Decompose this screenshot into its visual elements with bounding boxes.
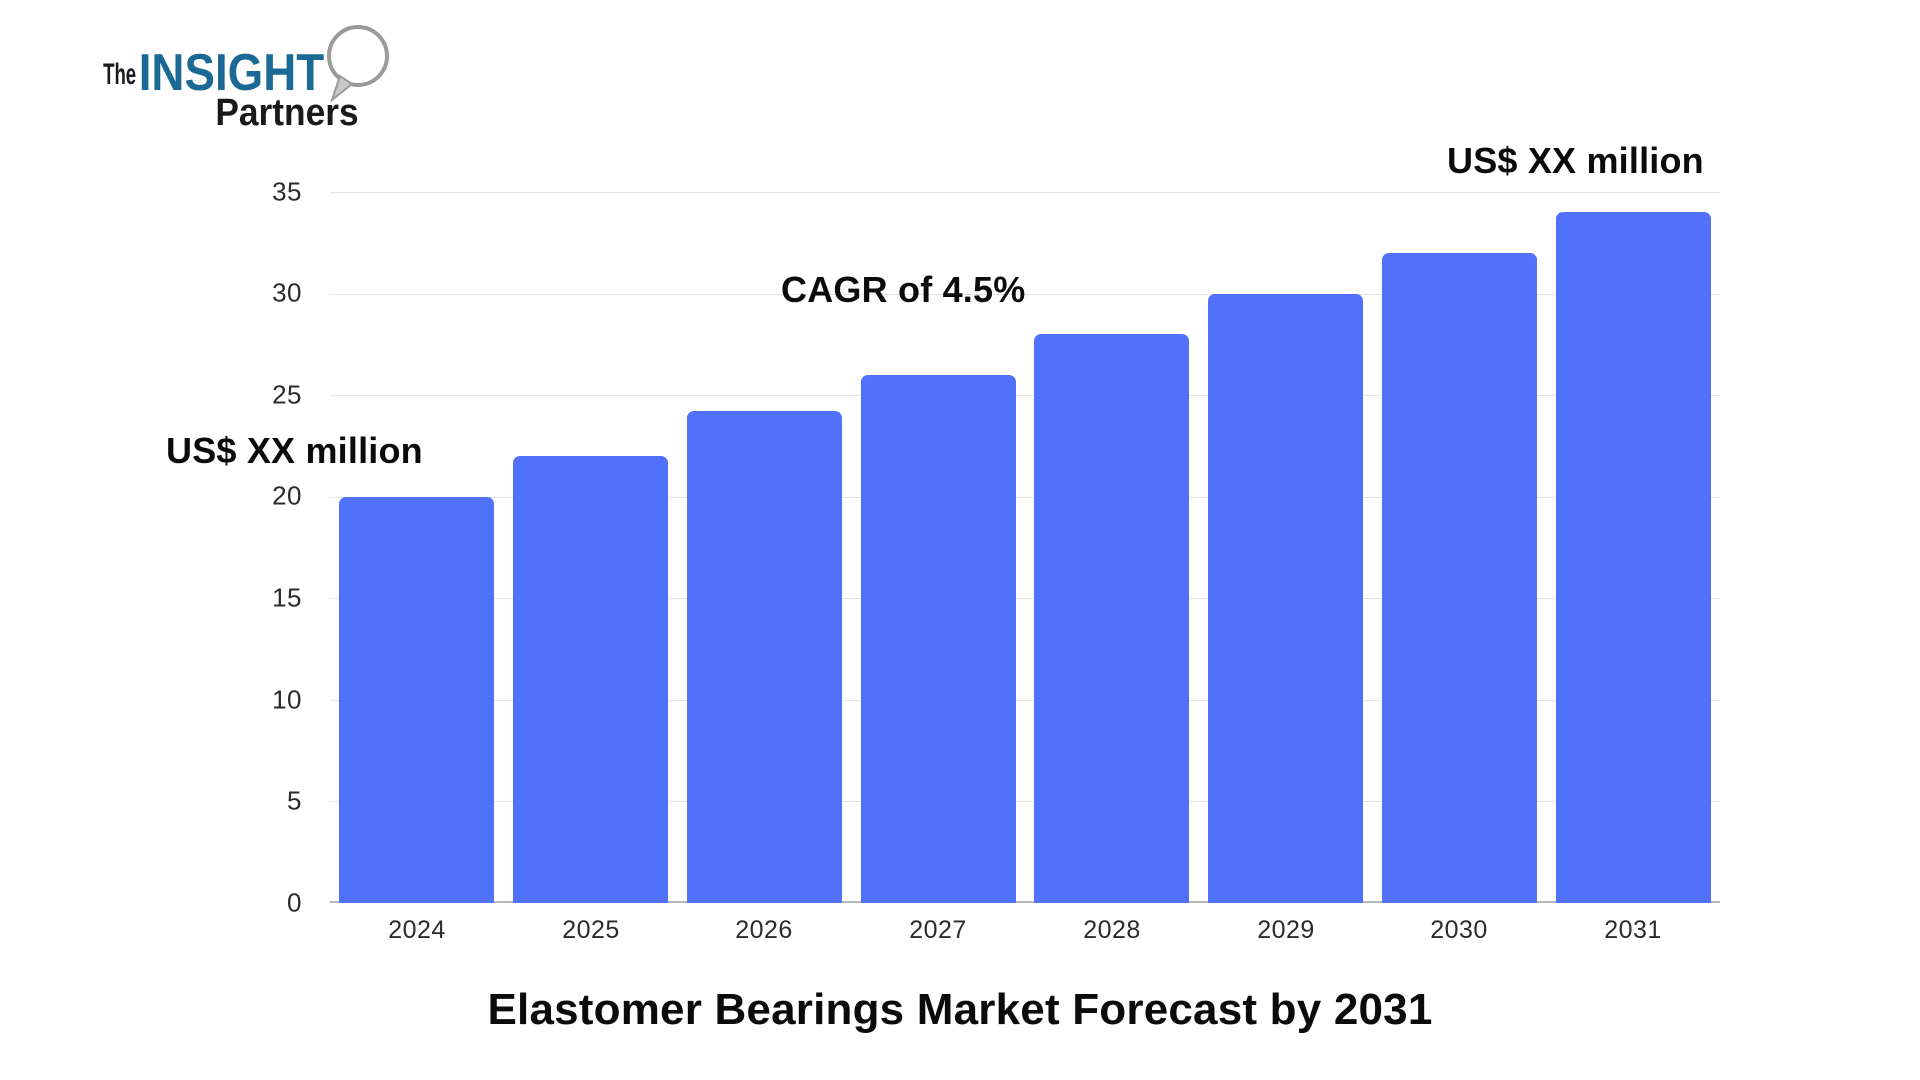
chart-title: Elastomer Bearings Market Forecast by 20… — [0, 985, 1920, 1035]
bar-2024[interactable] — [339, 497, 494, 903]
y-tick-label: 15 — [182, 583, 302, 614]
annotation-end-value: US$ XX million — [1447, 140, 1704, 182]
chart-container: 35 30 25 20 15 10 5 0 — [0, 0, 1920, 1080]
y-tick-label: 5 — [182, 786, 302, 817]
x-tick-label-2030: 2030 — [1359, 916, 1559, 945]
y-tick-label: 25 — [182, 380, 302, 411]
x-tick-label-2026: 2026 — [664, 916, 864, 945]
bar-slot — [1373, 192, 1547, 903]
bar-slot — [504, 192, 678, 903]
y-tick-label: 0 — [182, 888, 302, 919]
x-tick-label-2029: 2029 — [1186, 916, 1386, 945]
bar-slot — [1199, 192, 1373, 903]
x-tick-label-2024: 2024 — [317, 916, 517, 945]
bar-slot — [1546, 192, 1720, 903]
y-tick-label: 20 — [182, 481, 302, 512]
bar-2026[interactable] — [687, 411, 842, 903]
bar-2029[interactable] — [1208, 294, 1363, 903]
x-tick-label-2028: 2028 — [1012, 916, 1212, 945]
x-tick-label-2025: 2025 — [491, 916, 691, 945]
bar-2027[interactable] — [861, 375, 1016, 903]
x-tick-label-2027: 2027 — [838, 916, 1038, 945]
annotation-cagr: CAGR of 4.5% — [781, 269, 1025, 311]
bar-2030[interactable] — [1382, 253, 1537, 903]
y-tick-label: 35 — [182, 177, 302, 208]
y-tick-label: 10 — [182, 685, 302, 716]
annotation-start-value: US$ XX million — [166, 430, 423, 472]
bar-2025[interactable] — [513, 456, 668, 903]
bar-2028[interactable] — [1034, 334, 1189, 903]
bar-2031[interactable] — [1556, 212, 1711, 903]
y-tick-label: 30 — [182, 278, 302, 309]
bar-slot — [330, 192, 504, 903]
bar-slot — [1025, 192, 1199, 903]
x-tick-label-2031: 2031 — [1533, 916, 1733, 945]
